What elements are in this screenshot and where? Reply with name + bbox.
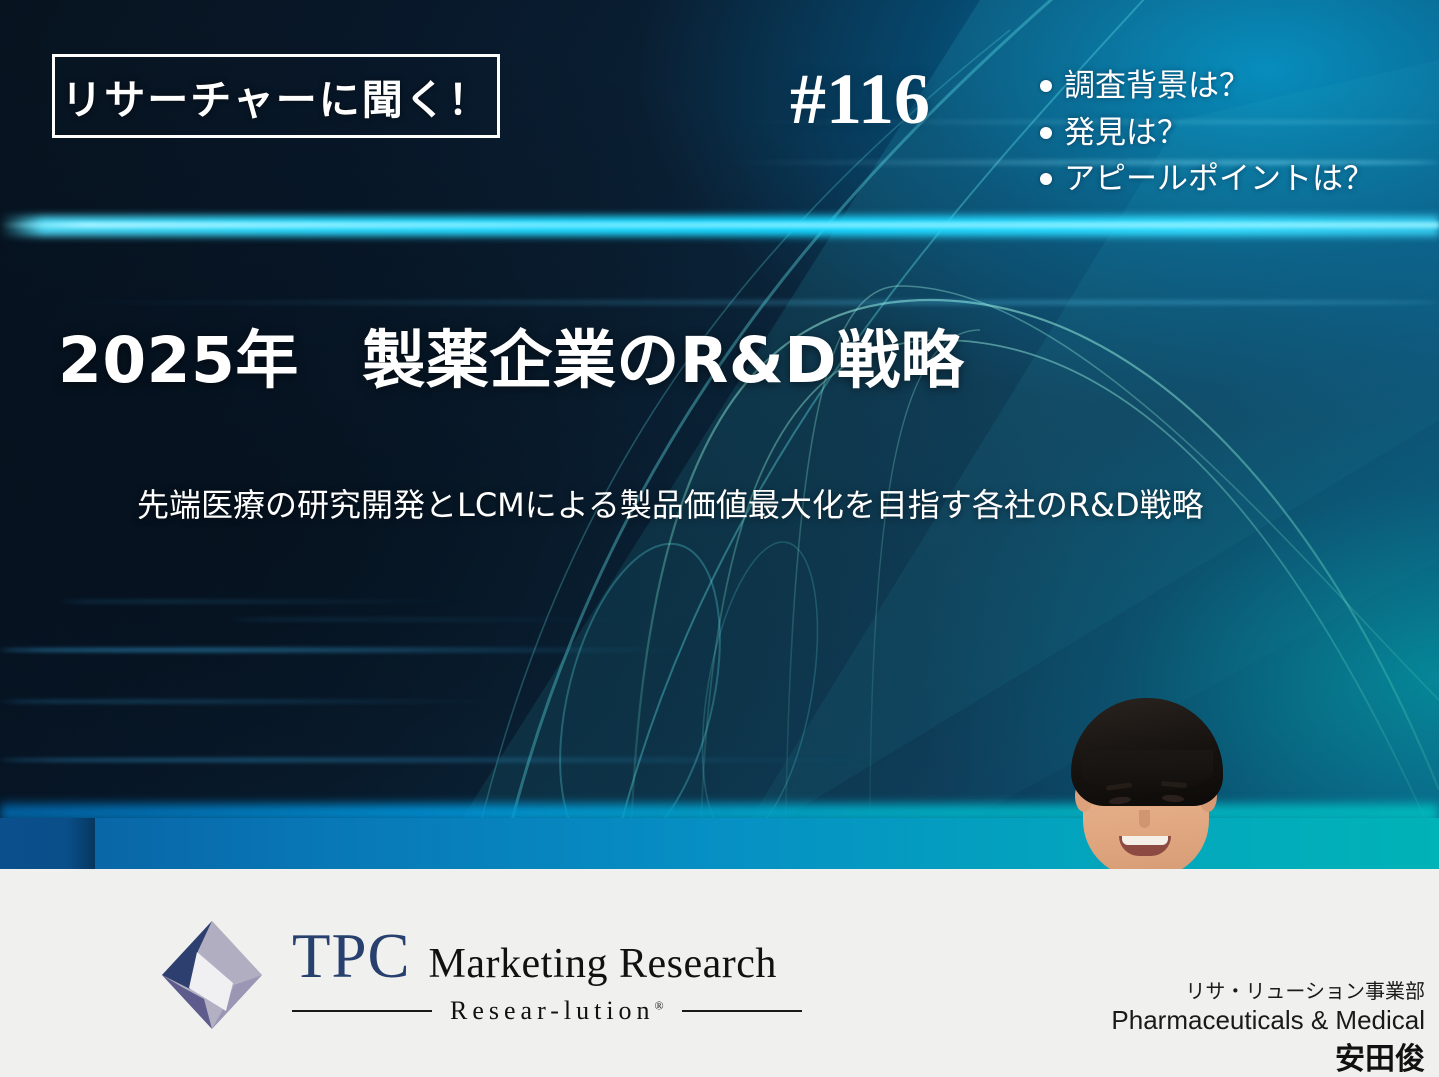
credit-department-ja: リサ・リューション事業部 bbox=[1111, 979, 1425, 1004]
bullet-label: 発見は？ bbox=[1064, 115, 1188, 152]
bullet-dot-icon bbox=[1040, 127, 1052, 139]
bullet-label: アピールポイントは？ bbox=[1064, 161, 1374, 198]
light-streak bbox=[0, 758, 900, 762]
logo-rule-left bbox=[292, 1010, 432, 1012]
logo-brand: TPC bbox=[292, 925, 411, 988]
logo-rule-right bbox=[682, 1010, 802, 1012]
diamond-logo-icon bbox=[160, 919, 264, 1031]
slide-canvas: リサーチャーに聞く！ #116 調査背景は？ 発見は？ アピールポイントは？ 2… bbox=[0, 0, 1439, 1077]
researcher-badge: リサーチャーに聞く！ bbox=[52, 54, 500, 138]
page-title: 2025年 製薬企業のR&D戦略 bbox=[58, 310, 964, 401]
logo-primary-row: TPC Marketing Research bbox=[292, 925, 802, 988]
bullet-dot-icon bbox=[1040, 173, 1052, 185]
light-streak bbox=[0, 700, 520, 703]
logo-secondary-row: Resear-lution® bbox=[292, 996, 802, 1026]
issue-number: #116 bbox=[790, 58, 930, 141]
logo-wordmark: TPC Marketing Research Resear-lution® bbox=[292, 925, 802, 1026]
list-item: 発見は？ bbox=[1040, 115, 1439, 152]
credit-person-name: 安田俊 bbox=[1111, 1042, 1425, 1077]
logo-slogan: Resear-lution® bbox=[450, 996, 664, 1026]
credit-department-en: Pharmaceuticals & Medical bbox=[1111, 1005, 1425, 1036]
light-streak bbox=[0, 648, 700, 652]
footer-bar: TPC Marketing Research Resear-lution® リサ… bbox=[0, 869, 1439, 1077]
presenter-teeth bbox=[1122, 836, 1168, 845]
main-light-beam-core bbox=[0, 222, 1439, 228]
bullet-dot-icon bbox=[1040, 80, 1052, 92]
registered-mark: ® bbox=[655, 998, 664, 1012]
tpc-logo: TPC Marketing Research Resear-lution® bbox=[160, 919, 802, 1031]
presenter-nose bbox=[1139, 810, 1150, 828]
light-streak bbox=[0, 300, 1439, 305]
light-streak bbox=[230, 618, 650, 621]
list-item: 調査背景は？ bbox=[1040, 68, 1439, 105]
logo-slogan-text: Resear-lution bbox=[450, 996, 655, 1025]
bullet-label: 調査背景は？ bbox=[1064, 68, 1250, 105]
question-bullet-list: 調査背景は？ 発見は？ アピールポイントは？ bbox=[1040, 68, 1439, 208]
light-streak bbox=[60, 600, 480, 603]
list-item: アピールポイントは？ bbox=[1040, 161, 1439, 198]
page-subtitle: 先端医療の研究開発とLCMによる製品価値最大化を目指す各社のR&D戦略 bbox=[137, 480, 1204, 526]
presenter-hair-fringe bbox=[1081, 750, 1213, 792]
logo-tagline: Marketing Research bbox=[429, 943, 777, 985]
badge-label: リサーチャーに聞く！ bbox=[61, 66, 491, 126]
presenter-credit: リサ・リューション事業部 Pharmaceuticals & Medical 安… bbox=[1111, 979, 1425, 1077]
